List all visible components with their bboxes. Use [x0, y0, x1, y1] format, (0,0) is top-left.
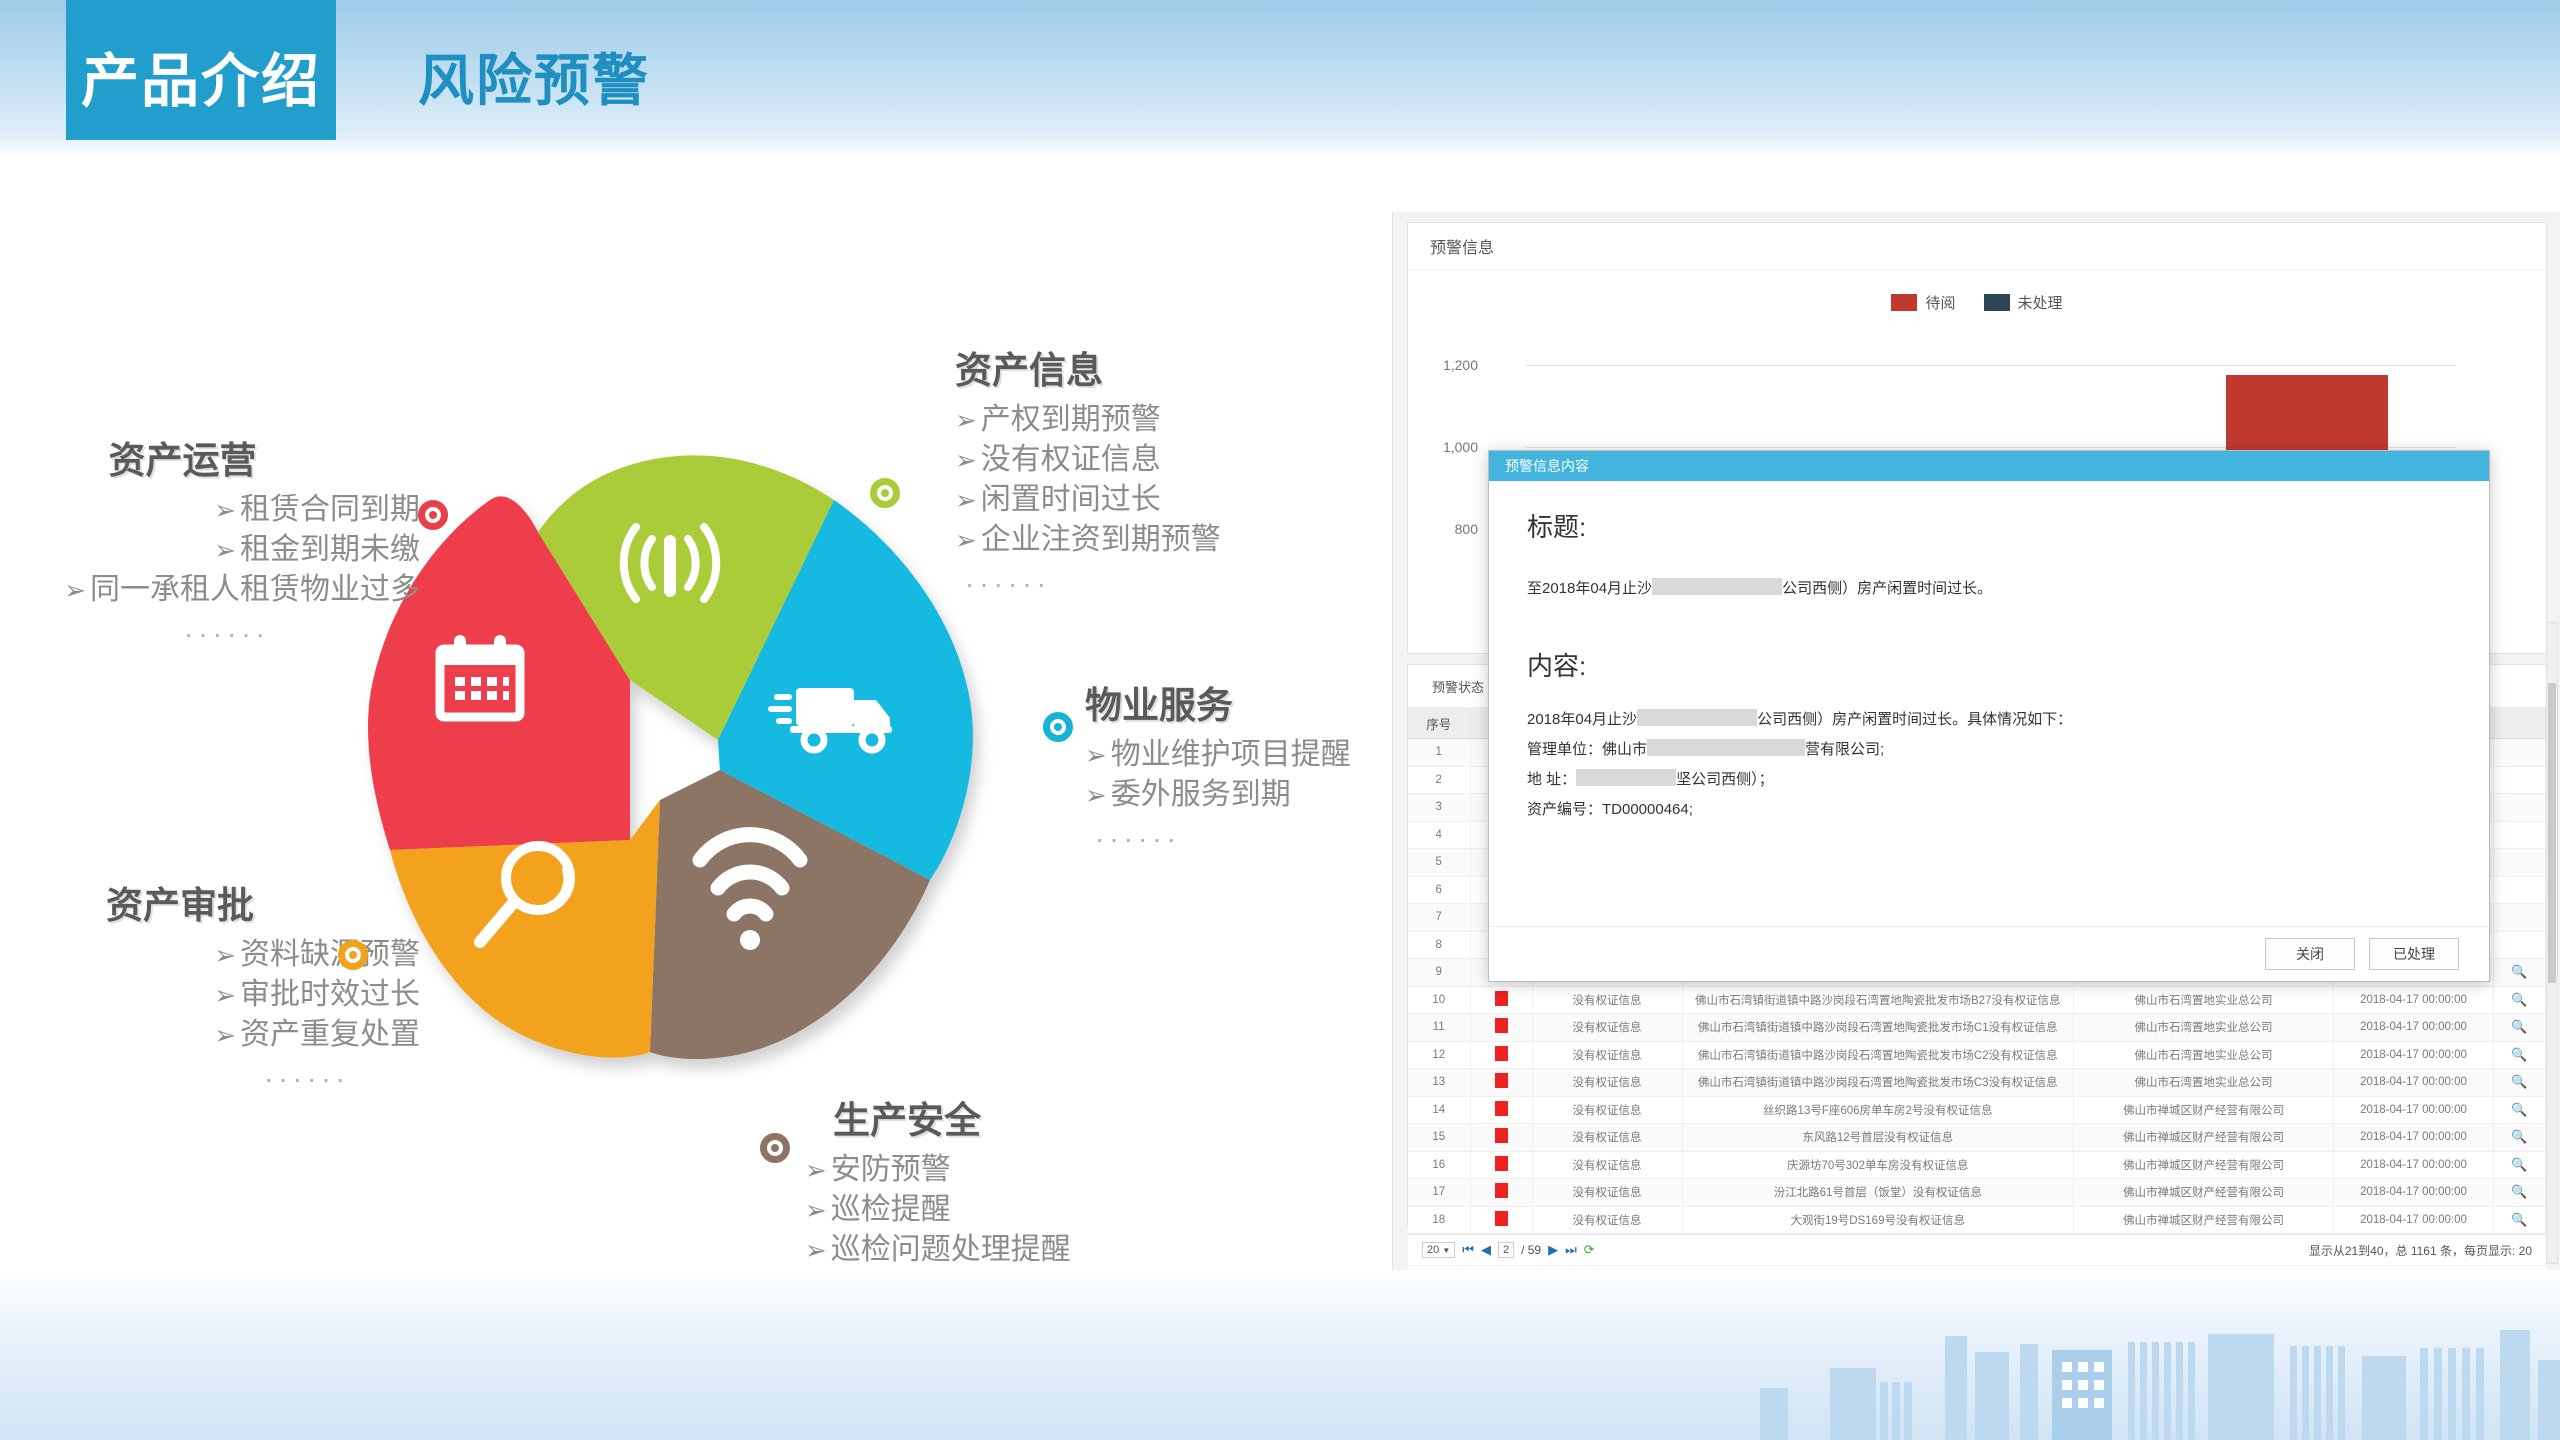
cell-type: 没有权证信息: [1532, 1096, 1682, 1124]
cell-unit: 佛山市石湾置地实业总公司: [2074, 986, 2334, 1014]
warning-detail-dialog: 预警信息内容 标题: 至2018年04月止沙公司西侧）房产闲置时间过长。 内容:…: [1488, 450, 2490, 982]
page-header: 产品介绍 风险预警: [0, 0, 2560, 152]
status-badge: [1495, 1046, 1508, 1061]
cell-content: 汾江北路61号首层（饭堂）没有权证信息: [1682, 1179, 2074, 1207]
dialog-title-text-a: 至2018年04月止沙: [1527, 580, 1652, 597]
cell-unit: 佛山市石湾置地实业总公司: [2074, 1014, 2334, 1042]
cell-status: [1470, 1014, 1532, 1042]
cell-time: 2018-04-17 00:00:00: [2334, 1206, 2494, 1234]
bullet-text: 租赁合同到期: [240, 493, 420, 526]
section-asset-approval: 资产审批 ➢资料缺漏预警 ➢审批时效过长 ➢资产重复处置 ······: [0, 875, 420, 1095]
col-index[interactable]: 序号: [1408, 708, 1470, 739]
bullet-text: 委外服务到期: [1111, 778, 1291, 811]
section-bullet-list: ➢安防预警 ➢巡检提醒 ➢巡检问题处理提醒: [805, 1150, 1325, 1270]
cell-content: 东风路12号首层没有权证信息: [1682, 1124, 2074, 1152]
cell-type: 没有权证信息: [1532, 986, 1682, 1014]
cell-time: 2018-04-17 00:00:00: [2334, 1014, 2494, 1042]
dialog-title-text: 至2018年04月止沙公司西侧）房产闲置时间过长。: [1527, 574, 2451, 604]
search-icon[interactable]: 🔍: [2511, 1129, 2527, 1144]
cell-time: 2018-04-17 00:00:00: [2334, 1069, 2494, 1097]
bullet-text: 巡检问题处理提醒: [831, 1233, 1071, 1266]
dialog-body: 标题: 至2018年04月止沙公司西侧）房产闲置时间过长。 内容: 2018年0…: [1489, 481, 2489, 825]
cell-unit: 佛山市禅城区财产经营有限公司: [2074, 1096, 2334, 1124]
table-body: 9没有权证信息佛山市石湾镇街道镇中路沙岗段石湾置地陶瓷批发市场B26没有权证信息…: [1408, 959, 2546, 1234]
dialog-footer: 关闭 已处理: [1489, 926, 2489, 981]
cell-unit: 佛山市禅城区财产经营有限公司: [2074, 1206, 2334, 1234]
list-item: ➢安防预警: [805, 1150, 1325, 1190]
search-icon[interactable]: 🔍: [2511, 1074, 2527, 1089]
search-icon[interactable]: 🔍: [2511, 1212, 2527, 1227]
cell-time: 2018-04-17 00:00:00: [2334, 1124, 2494, 1152]
cell-action: 🔍: [2494, 959, 2546, 987]
arrow-bullet-icon: ➢: [805, 1155, 827, 1185]
section-title: 资产审批: [0, 875, 420, 929]
cell-type: 没有权证信息: [1532, 1041, 1682, 1069]
cell-hidden: [2494, 931, 2546, 959]
marker-dot-property-service: [1043, 712, 1073, 742]
cell-status: [1470, 1096, 1532, 1124]
arrow-bullet-icon: ➢: [955, 445, 977, 475]
cell-content: 佛山市石湾镇街道镇中路沙岗段石湾置地陶瓷批发市场C1没有权证信息: [1682, 1014, 2074, 1042]
cell-index: 18: [1408, 1206, 1470, 1234]
search-icon[interactable]: 🔍: [2511, 1047, 2527, 1062]
marker-dot-production-safety: [760, 1133, 790, 1163]
cell-hidden: [2494, 849, 2546, 877]
arrow-bullet-icon: ➢: [955, 405, 977, 435]
cell-hidden: [2494, 821, 2546, 849]
page-size-value: 20: [1427, 1244, 1439, 1256]
cell-status: [1470, 1206, 1532, 1234]
table-row[interactable]: 18没有权证信息大观街19号DS169号没有权证信息佛山市禅城区财产经营有限公司…: [1408, 1206, 2546, 1234]
search-icon[interactable]: 🔍: [2511, 1184, 2527, 1199]
status-badge: [1495, 1211, 1508, 1226]
cell-unit: 佛山市禅城区财产经营有限公司: [2074, 1124, 2334, 1152]
table-row[interactable]: 17没有权证信息汾江北路61号首层（饭堂）没有权证信息佛山市禅城区财产经营有限公…: [1408, 1179, 2546, 1207]
status-badge: [1495, 1073, 1508, 1088]
legend-label: 待阅: [1925, 292, 1955, 313]
pagination-bar: 20 ▼ ⏮ ◀ 2 / 59 ▶ ⏭ ⟳ 显示从21到40，总 1161 条，…: [1408, 1234, 2546, 1265]
cell-index: 10: [1408, 986, 1470, 1014]
next-page-button[interactable]: ▶: [1548, 1242, 1558, 1258]
legend-item[interactable]: 未处理: [1984, 292, 2063, 313]
total-pages-label: / 59: [1521, 1243, 1541, 1257]
table-row[interactable]: 10没有权证信息佛山市石湾镇街道镇中路沙岗段石湾置地陶瓷批发市场B27没有权证信…: [1408, 986, 2546, 1014]
cell-action: 🔍: [2494, 1069, 2546, 1097]
marker-dot-asset-approval: [338, 940, 368, 970]
search-icon[interactable]: 🔍: [2511, 992, 2527, 1007]
cell-status: [1470, 986, 1532, 1014]
cell-action: 🔍: [2494, 1041, 2546, 1069]
table-row[interactable]: 11没有权证信息佛山市石湾镇街道镇中路沙岗段石湾置地陶瓷批发市场C1没有权证信息…: [1408, 1014, 2546, 1042]
content-line-4: 资产编号：TD00000464;: [1527, 795, 2451, 825]
cell-type: 没有权证信息: [1532, 1151, 1682, 1179]
cell-type: 没有权证信息: [1532, 1124, 1682, 1152]
filter-label: 预警状态: [1432, 677, 1484, 696]
chart-legend: 待阅 未处理: [1408, 292, 2546, 313]
page-title: 风险预警: [418, 0, 650, 152]
status-badge: [1495, 1156, 1508, 1171]
processed-button[interactable]: 已处理: [2369, 938, 2459, 970]
section-title: 资产信息: [955, 340, 1435, 394]
content-line-1: 2018年04月止沙公司西侧）房产闲置时间过长。具体情况如下：: [1527, 705, 2451, 735]
bullet-text: 安防预警: [831, 1153, 951, 1186]
list-item: ➢产权到期预警: [955, 400, 1435, 440]
chevron-down-icon: ▼: [1442, 1246, 1450, 1255]
cell-type: 没有权证信息: [1532, 1069, 1682, 1097]
cell-index: 17: [1408, 1179, 1470, 1207]
status-badge: [1495, 1018, 1508, 1033]
legend-swatch-pending-read: [1891, 294, 1917, 311]
content-line2-b: 营有限公司;: [1805, 741, 1884, 758]
cell-index: 3: [1408, 794, 1470, 822]
cell-content: 佛山市石湾镇街道镇中路沙岗段石湾置地陶瓷批发市场C2没有权证信息: [1682, 1041, 2074, 1069]
cell-hidden: [2494, 876, 2546, 904]
section-ellipsis: ······: [955, 568, 1435, 600]
cell-index: 15: [1408, 1124, 1470, 1152]
cell-action: 🔍: [2494, 1206, 2546, 1234]
cell-status: [1470, 1041, 1532, 1069]
cell-index: 4: [1408, 821, 1470, 849]
cell-time: 2018-04-17 00:00:00: [2334, 1041, 2494, 1069]
legend-label: 未处理: [2018, 292, 2063, 313]
status-badge: [1495, 1128, 1508, 1143]
cell-unit: 佛山市石湾置地实业总公司: [2074, 1041, 2334, 1069]
arrow-bullet-icon: ➢: [214, 980, 236, 1010]
current-page-input[interactable]: 2: [1498, 1242, 1514, 1258]
cell-index: 2: [1408, 766, 1470, 794]
y-tick-label: 800: [1455, 521, 1478, 537]
cell-type: 没有权证信息: [1532, 1014, 1682, 1042]
arrow-bullet-icon: ➢: [214, 1020, 236, 1050]
list-item: ➢资产重复处置: [0, 1015, 420, 1055]
bullet-text: 物业维护项目提醒: [1111, 738, 1351, 771]
cell-unit: 佛山市禅城区财产经营有限公司: [2074, 1151, 2334, 1179]
section-ellipsis: ······: [0, 618, 420, 650]
pentagon-diagram: [330, 440, 1030, 1080]
list-item: ➢企业注资到期预警: [955, 520, 1435, 560]
refresh-icon[interactable]: ⟳: [1584, 1242, 1595, 1258]
cell-content: 庆源坊70号302单车房没有权证信息: [1682, 1151, 2074, 1179]
table-row[interactable]: 12没有权证信息佛山市石湾镇街道镇中路沙岗段石湾置地陶瓷批发市场C2没有权证信息…: [1408, 1041, 2546, 1069]
list-item: ➢没有权证信息: [955, 440, 1435, 480]
prev-page-button[interactable]: ◀: [1481, 1242, 1491, 1258]
arrow-bullet-icon: ➢: [955, 525, 977, 555]
redaction-block: [1637, 709, 1757, 726]
bullet-text: 闲置时间过长: [981, 483, 1161, 516]
cell-time: 2018-04-17 00:00:00: [2334, 1179, 2494, 1207]
city-skyline-graphic: [0, 1330, 2560, 1440]
cell-unit: 佛山市禅城区财产经营有限公司: [2074, 1179, 2334, 1207]
bullet-text: 同一承租人租赁物业过多: [90, 573, 420, 606]
cell-index: 7: [1408, 904, 1470, 932]
arrow-bullet-icon: ➢: [955, 485, 977, 515]
section-asset-operation: 资产运营 ➢租赁合同到期 ➢租金到期未缴 ➢同一承租人租赁物业过多 ······: [0, 430, 420, 650]
content-line3-a: 地 址：: [1527, 771, 1576, 788]
legend-swatch-unprocessed: [1984, 294, 2010, 311]
dialog-title-bar: 预警信息内容: [1489, 451, 2489, 481]
cell-type: 没有权证信息: [1532, 1206, 1682, 1234]
page-size-select[interactable]: 20 ▼: [1422, 1242, 1455, 1258]
arrow-bullet-icon: ➢: [805, 1235, 827, 1265]
cell-status: [1470, 1151, 1532, 1179]
pagination-info: 显示从21到40，总 1161 条，每页显示: 20: [2309, 1242, 2532, 1259]
cell-hidden: [2494, 904, 2546, 932]
section-title: 生产安全: [805, 1090, 1325, 1144]
bullet-text: 企业注资到期预警: [981, 523, 1221, 556]
last-page-button[interactable]: ⏭: [1565, 1242, 1577, 1258]
redaction-block: [1647, 739, 1805, 756]
cell-index: 14: [1408, 1096, 1470, 1124]
redaction-block: [1652, 578, 1782, 595]
footer-band: [0, 1270, 2560, 1440]
bullet-text: 租金到期未缴: [240, 533, 420, 566]
cell-content: 大观街19号DS169号没有权证信息: [1682, 1206, 2074, 1234]
content-line2-a: 管理单位：佛山市: [1527, 741, 1647, 758]
arrow-bullet-icon: ➢: [1085, 780, 1107, 810]
first-page-button[interactable]: ⏮: [1462, 1242, 1474, 1258]
cell-action: 🔍: [2494, 986, 2546, 1014]
content-line-3: 地 址：坚公司西侧）；: [1527, 765, 2451, 795]
content-line1-a: 2018年04月止沙: [1527, 711, 1637, 728]
cell-content: 丝织路13号F座606房单车房2号没有权证信息: [1682, 1096, 2074, 1124]
table-row[interactable]: 15没有权证信息东风路12号首层没有权证信息佛山市禅城区财产经营有限公司2018…: [1408, 1124, 2546, 1152]
content-line3-b: 坚公司西侧）；: [1676, 771, 1774, 788]
tab-product-intro[interactable]: 产品介绍: [66, 0, 336, 152]
table-row[interactable]: 16没有权证信息庆源坊70号302单车房没有权证信息佛山市禅城区财产经营有限公司…: [1408, 1151, 2546, 1179]
cell-hidden: [2494, 794, 2546, 822]
cell-index: 11: [1408, 1014, 1470, 1042]
gridline: [1526, 365, 2456, 366]
cell-content: 佛山市石湾镇街道镇中路沙岗段石湾置地陶瓷批发市场C3没有权证信息: [1682, 1069, 2074, 1097]
cell-index: 1: [1408, 739, 1470, 767]
scrollbar-thumb[interactable]: [2548, 683, 2556, 983]
search-icon[interactable]: 🔍: [2511, 1019, 2527, 1034]
legend-item[interactable]: 待阅: [1891, 292, 1955, 313]
bullet-text: 巡检提醒: [831, 1193, 951, 1226]
section-bullet-list: ➢租赁合同到期 ➢租金到期未缴 ➢同一承租人租赁物业过多: [0, 490, 420, 610]
arrow-bullet-icon: ➢: [64, 575, 86, 605]
dialog-label-content: 内容:: [1527, 646, 2451, 683]
marker-dot-asset-info: [870, 478, 900, 508]
cell-action: 🔍: [2494, 1014, 2546, 1042]
marker-dot-asset-operation: [418, 500, 448, 530]
cell-action: 🔍: [2494, 1124, 2546, 1152]
cell-time: 2018-04-17 00:00:00: [2334, 1151, 2494, 1179]
cell-type: 没有权证信息: [1532, 1179, 1682, 1207]
y-tick-label: 1,000: [1443, 439, 1478, 455]
header-fade-strip: [0, 140, 2560, 158]
cell-hidden: [2494, 739, 2546, 767]
cell-action: 🔍: [2494, 1151, 2546, 1179]
arrow-bullet-icon: ➢: [214, 495, 236, 525]
arrow-bullet-icon: ➢: [1085, 740, 1107, 770]
cell-time: 2018-04-17 00:00:00: [2334, 986, 2494, 1014]
cell-index: 12: [1408, 1041, 1470, 1069]
list-item: ➢租金到期未缴: [0, 530, 420, 570]
status-badge: [1495, 1183, 1508, 1198]
content-line1-b: 公司西侧）房产闲置时间过长。具体情况如下：: [1757, 711, 2072, 728]
dialog-title: 预警信息内容: [1505, 456, 1589, 476]
arrow-bullet-icon: ➢: [214, 940, 236, 970]
section-ellipsis: ······: [0, 1063, 420, 1095]
cell-status: [1470, 1179, 1532, 1207]
close-button[interactable]: 关闭: [2265, 938, 2355, 970]
bullet-text: 没有权证信息: [981, 443, 1161, 476]
section-asset-info: 资产信息 ➢产权到期预警 ➢没有权证信息 ➢闲置时间过长 ➢企业注资到期预警 ·…: [955, 340, 1435, 600]
search-icon[interactable]: 🔍: [2511, 964, 2527, 979]
section-bullet-list: ➢产权到期预警 ➢没有权证信息 ➢闲置时间过长 ➢企业注资到期预警: [955, 400, 1435, 560]
vertical-scrollbar[interactable]: [2546, 622, 2558, 1264]
list-item: ➢巡检提醒: [805, 1190, 1325, 1230]
list-item: ➢审批时效过长: [0, 975, 420, 1015]
status-badge: [1495, 1101, 1508, 1116]
table-row[interactable]: 13没有权证信息佛山市石湾镇街道镇中路沙岗段石湾置地陶瓷批发市场C3没有权证信息…: [1408, 1069, 2546, 1097]
list-item: ➢巡检问题处理提醒: [805, 1230, 1325, 1270]
dialog-content-text: 2018年04月止沙公司西侧）房产闲置时间过长。具体情况如下： 管理单位：佛山市…: [1527, 705, 2451, 825]
cell-unit: 佛山市石湾置地实业总公司: [2074, 1069, 2334, 1097]
status-badge: [1495, 991, 1508, 1006]
cell-status: [1470, 1124, 1532, 1152]
dialog-title-text-b: 公司西侧）房产闲置时间过长。: [1782, 580, 1992, 597]
dialog-label-title: 标题:: [1527, 507, 2451, 544]
search-icon[interactable]: 🔍: [2511, 1102, 2527, 1117]
cell-status: [1470, 1069, 1532, 1097]
list-item: ➢闲置时间过长: [955, 480, 1435, 520]
list-item: ➢租赁合同到期: [0, 490, 420, 530]
section-title: 资产运营: [0, 430, 420, 484]
cell-action: 🔍: [2494, 1096, 2546, 1124]
bullet-text: 资料缺漏预警: [240, 938, 420, 971]
cell-index: 16: [1408, 1151, 1470, 1179]
col-action[interactable]: [2494, 708, 2546, 739]
y-tick-label: 1,200: [1443, 357, 1478, 373]
cell-index: 6: [1408, 876, 1470, 904]
cell-time: 2018-04-17 00:00:00: [2334, 1096, 2494, 1124]
cell-action: 🔍: [2494, 1179, 2546, 1207]
cell-content: 佛山市石湾镇街道镇中路沙岗段石湾置地陶瓷批发市场B27没有权证信息: [1682, 986, 2074, 1014]
chart-card-title: 预警信息: [1408, 223, 2546, 270]
bullet-text: 产权到期预警: [981, 403, 1161, 436]
table-row[interactable]: 14没有权证信息丝织路13号F座606房单车房2号没有权证信息佛山市禅城区财产经…: [1408, 1096, 2546, 1124]
cell-hidden: [2494, 766, 2546, 794]
search-icon[interactable]: 🔍: [2511, 1157, 2527, 1172]
bullet-text: 审批时效过长: [240, 978, 420, 1011]
arrow-bullet-icon: ➢: [214, 535, 236, 565]
content-line-2: 管理单位：佛山市营有限公司;: [1527, 735, 2451, 765]
cell-index: 9: [1408, 959, 1470, 987]
cell-index: 13: [1408, 1069, 1470, 1097]
bullet-text: 资产重复处置: [240, 1018, 420, 1051]
cell-index: 8: [1408, 931, 1470, 959]
cell-index: 5: [1408, 849, 1470, 877]
redaction-block: [1576, 769, 1676, 786]
list-item: ➢同一承租人租赁物业过多: [0, 570, 420, 610]
arrow-bullet-icon: ➢: [805, 1195, 827, 1225]
